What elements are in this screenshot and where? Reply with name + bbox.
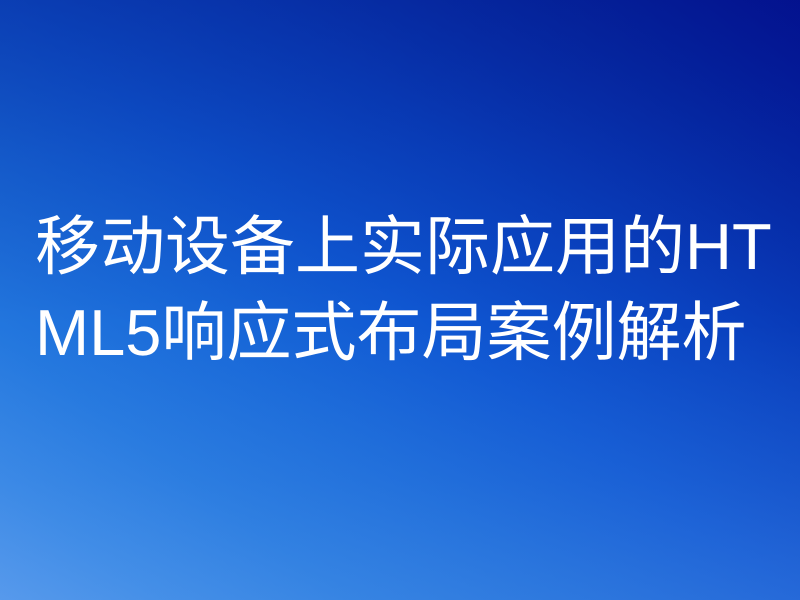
headline-block: 移动设备上实际应用的HTML5响应式布局案例解析 [35, 204, 783, 376]
page-title: 移动设备上实际应用的HTML5响应式布局案例解析 [35, 204, 783, 376]
title-card: 移动设备上实际应用的HTML5响应式布局案例解析 [0, 0, 800, 600]
